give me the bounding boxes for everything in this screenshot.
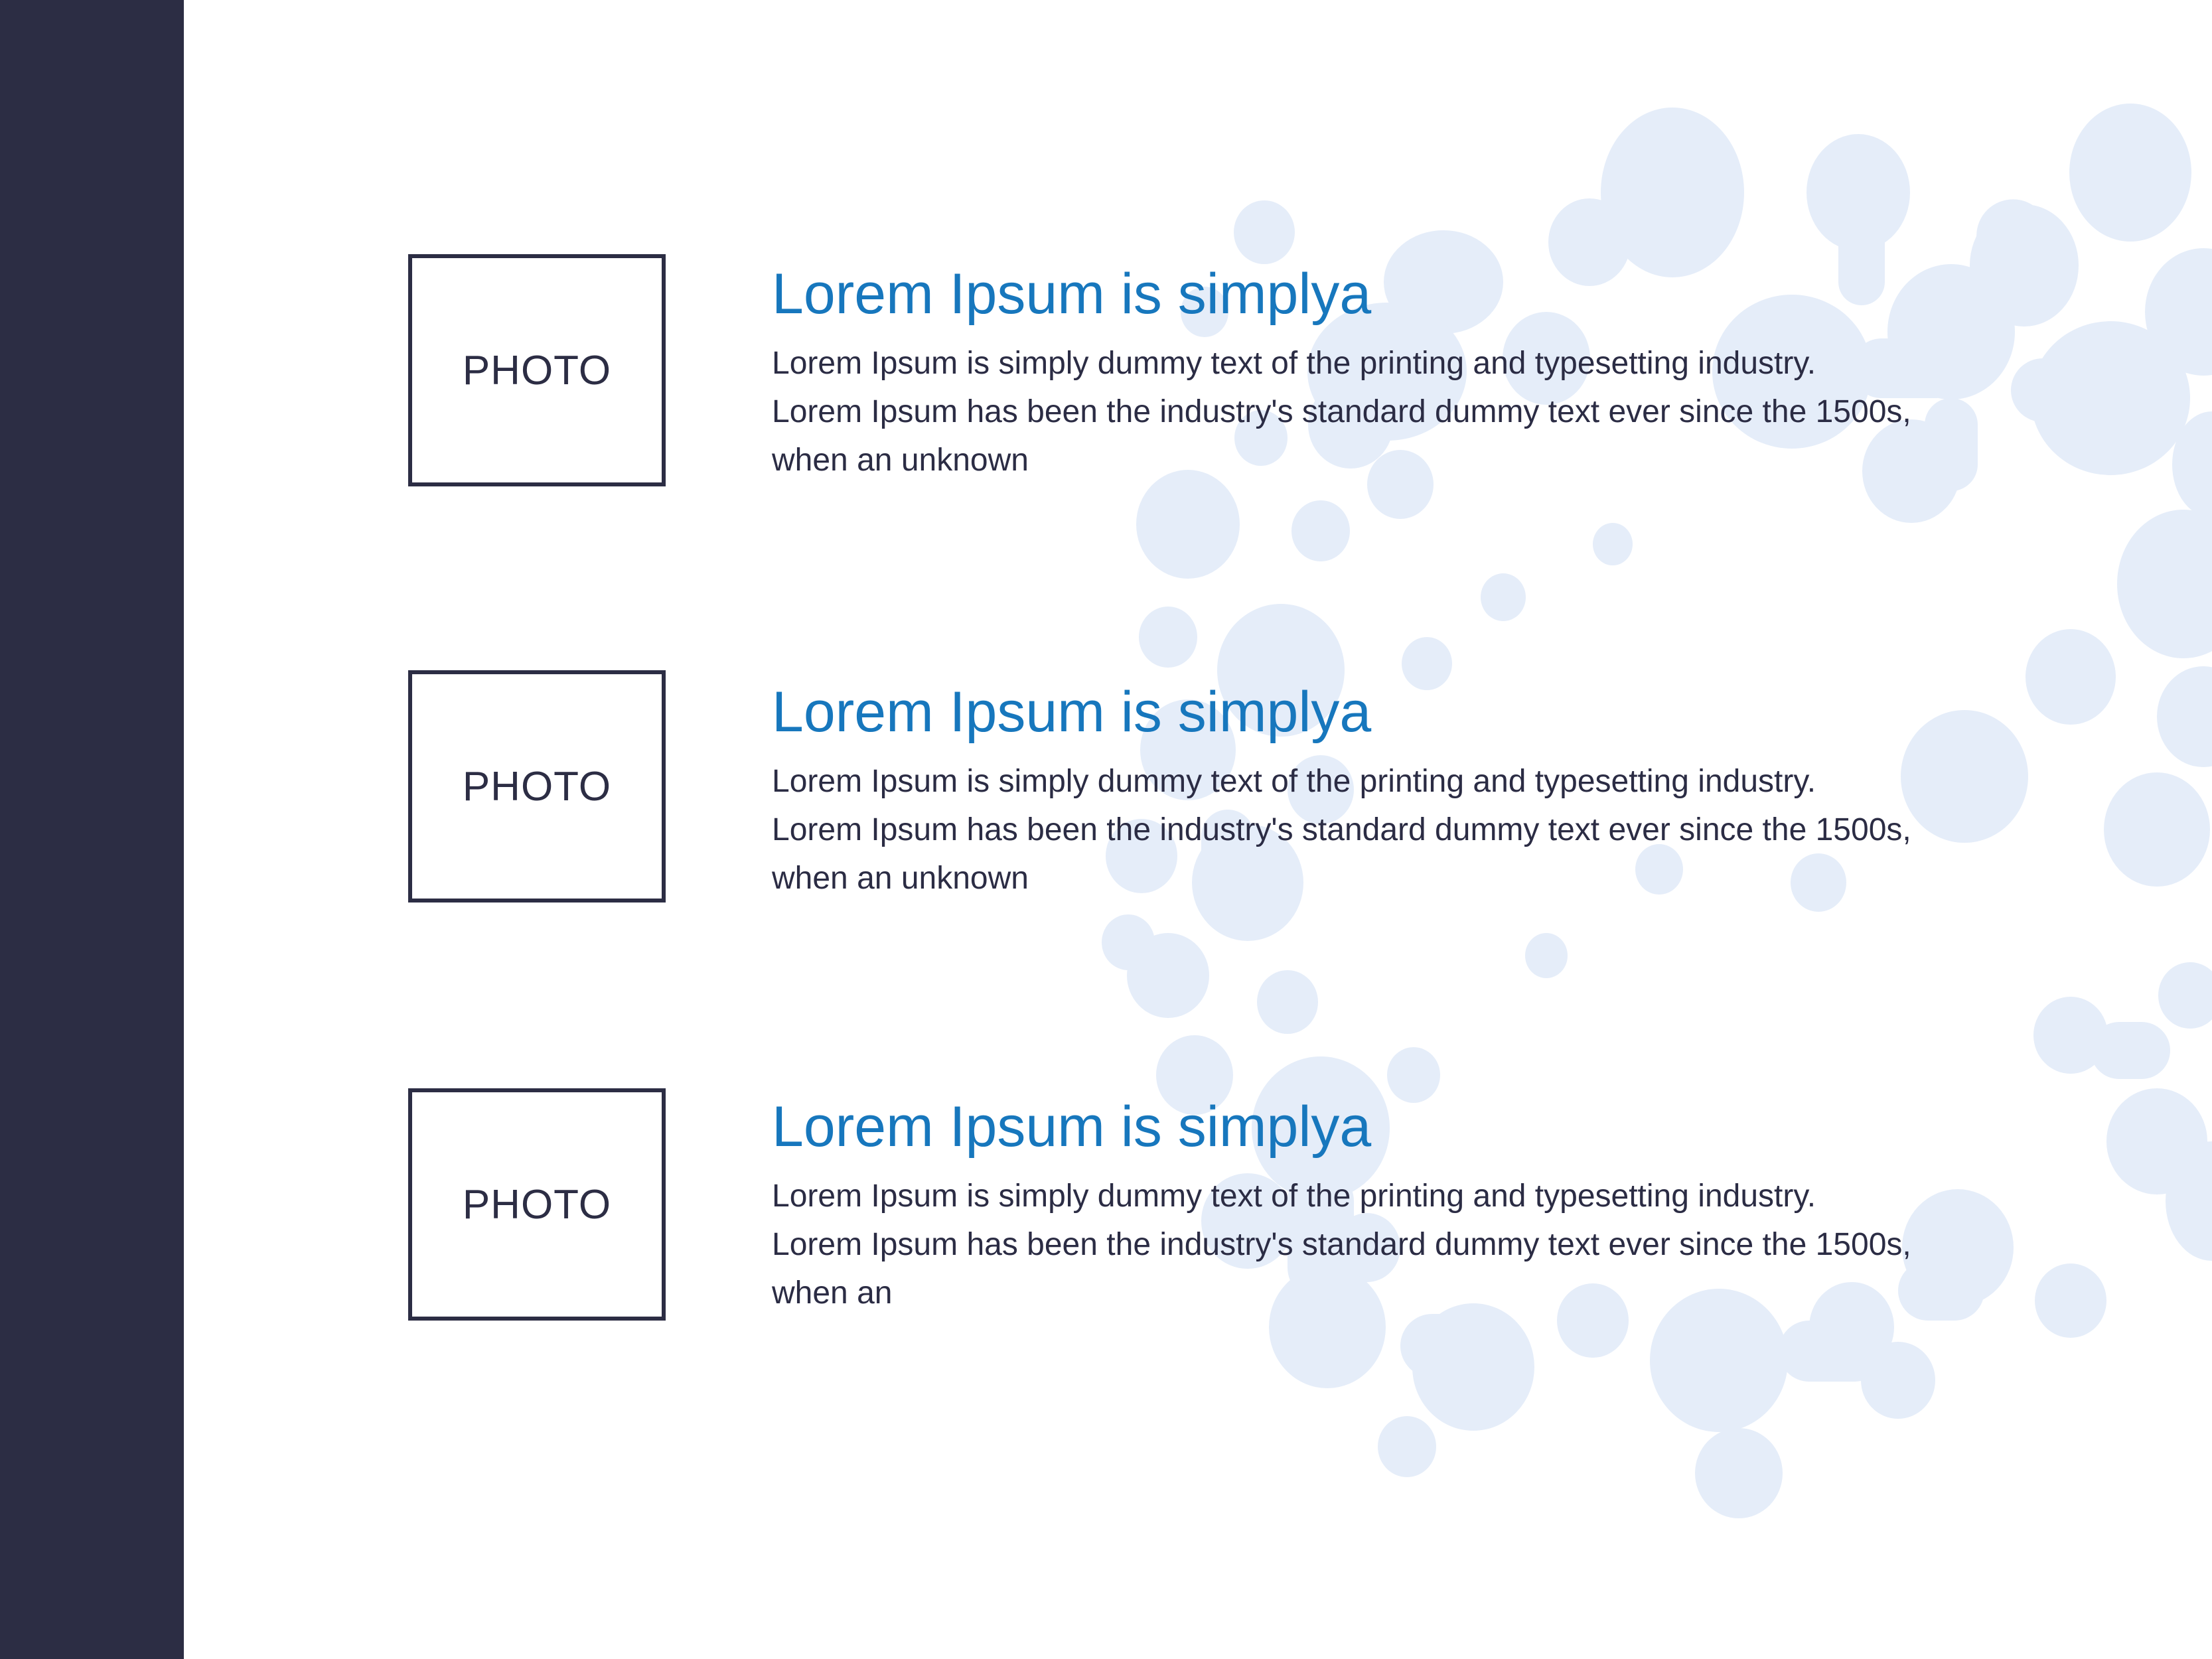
photo-placeholder[interactable]: PHOTO [408,670,666,902]
block-text-column: Lorem Ipsum is simplya Lorem Ipsum is si… [772,265,1927,485]
block-body-text: Lorem Ipsum is simply dummy text of the … [772,758,1913,903]
block-body-text: Lorem Ipsum is simply dummy text of the … [772,1173,1913,1318]
photo-placeholder[interactable]: PHOTO [408,254,666,486]
block-heading: Lorem Ipsum is simplya [772,265,1927,323]
content-area: PHOTO Lorem Ipsum is simplya Lorem Ipsum… [0,0,2212,1659]
photo-placeholder-label: PHOTO [463,1181,611,1228]
block-text-column: Lorem Ipsum is simplya Lorem Ipsum is si… [772,684,1927,903]
block-heading: Lorem Ipsum is simplya [772,1098,1927,1155]
photo-placeholder-label: PHOTO [463,347,611,394]
photo-placeholder[interactable]: PHOTO [408,1088,666,1321]
block-body-text: Lorem Ipsum is simply dummy text of the … [772,340,1913,485]
block-heading: Lorem Ipsum is simplya [772,684,1927,741]
slide-canvas: PHOTO Lorem Ipsum is simplya Lorem Ipsum… [0,0,2212,1659]
block-text-column: Lorem Ipsum is simplya Lorem Ipsum is si… [772,1098,1927,1318]
photo-placeholder-label: PHOTO [463,763,611,810]
